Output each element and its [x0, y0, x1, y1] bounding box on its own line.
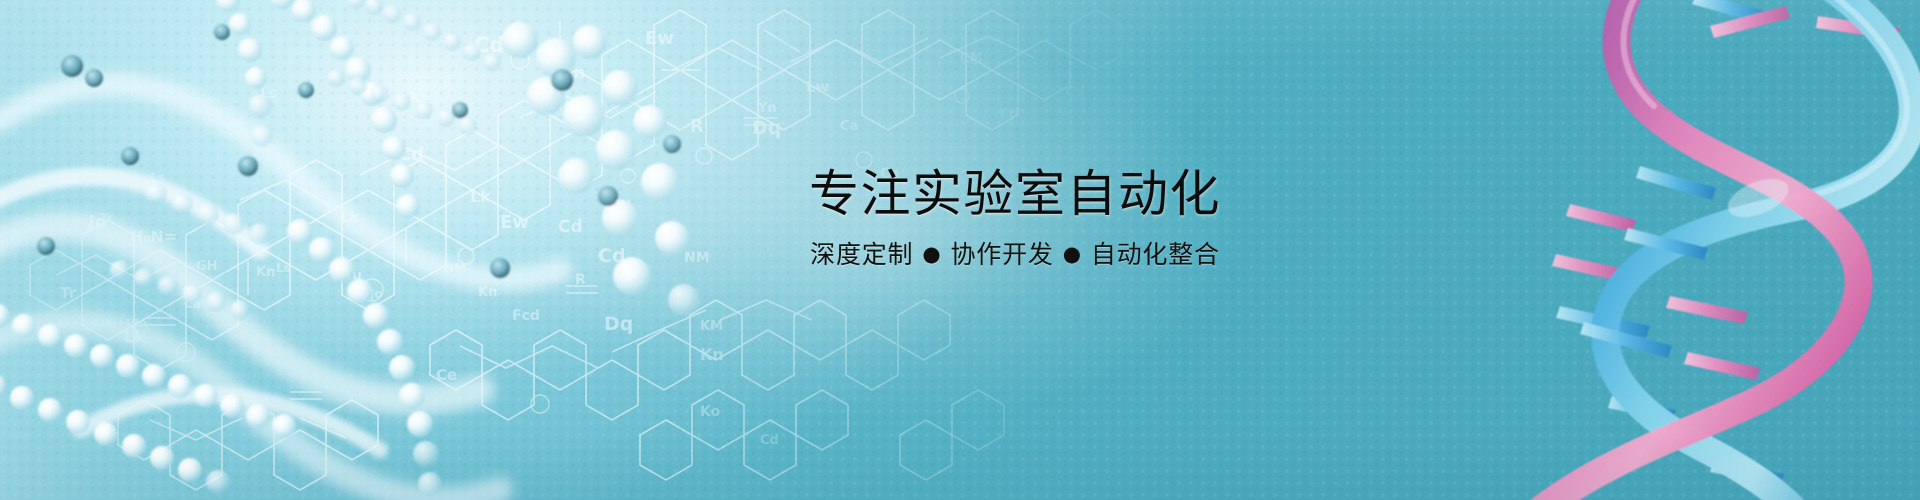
bullet-separator-icon: ●	[922, 243, 941, 266]
svg-text:Cd: Cd	[760, 433, 779, 448]
subtitle-item-2: 协作开发	[950, 240, 1053, 269]
banner-subtitle: 深度定制●协作开发●自动化整合	[755, 241, 1275, 269]
banner-copy: 专注实验室自动化 深度定制●协作开发●自动化整合	[755, 168, 1275, 269]
bullet-separator-icon: ●	[1063, 243, 1082, 266]
subtitle-item-1: 深度定制	[810, 240, 913, 269]
hero-banner: Cd Yn Ew HoH R Dq Yn K Cd Lk Lk Ew Cd TN…	[0, 0, 1920, 500]
svg-text:Cd: Cd	[1000, 107, 1019, 122]
subtitle-item-3: 自动化整合	[1091, 240, 1220, 269]
svg-text:Cd: Cd	[1066, 85, 1085, 100]
pearl-molecular-helix	[0, 0, 720, 500]
svg-text:Dq: Dq	[752, 117, 781, 139]
svg-text:Lw: Lw	[806, 78, 830, 96]
dna-double-helix	[1500, 0, 1920, 500]
svg-text:CM: CM	[960, 51, 982, 66]
svg-text:Yn: Yn	[757, 101, 777, 116]
svg-text:Ca: Ca	[840, 119, 858, 134]
page-title: 专注实验室自动化	[755, 168, 1275, 221]
